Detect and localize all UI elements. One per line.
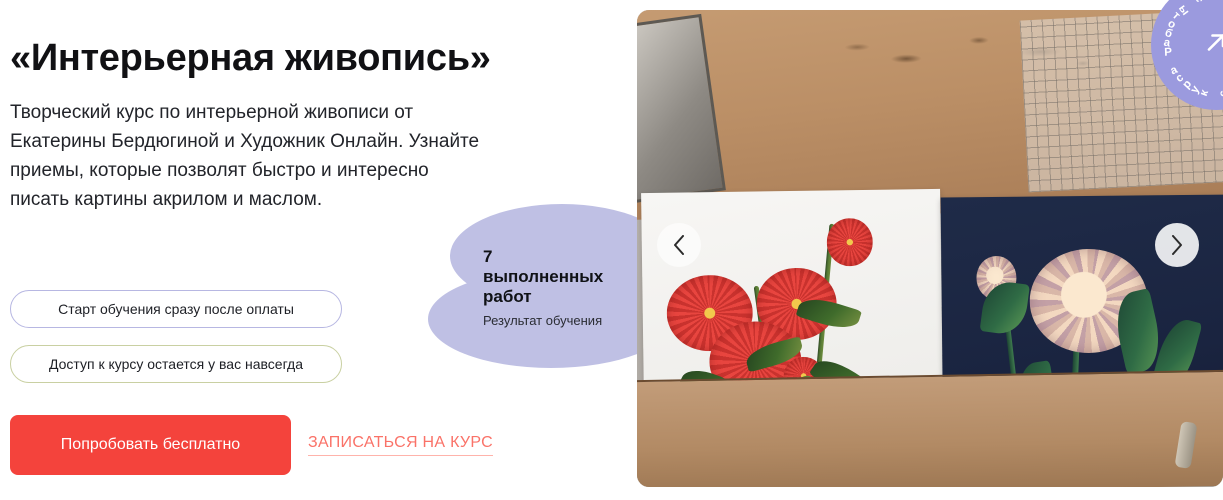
carousel-next-button[interactable]	[1155, 223, 1199, 267]
course-hero-section: «Интерьерная живопись» Творческий курс п…	[0, 0, 1223, 500]
works-from-course-badge[interactable]: Работы с курса • Работы с курса	[1151, 0, 1223, 110]
hero-text-column: «Интерьерная живопись» Творческий курс п…	[0, 0, 640, 500]
photo-table-surface	[637, 370, 1223, 487]
carousel-prev-button[interactable]	[657, 223, 701, 267]
studio-photo-scene	[637, 10, 1223, 487]
gallery-photo[interactable]	[637, 10, 1223, 487]
feature-pill-access: Доступ к курсу остается у вас навсегда	[10, 345, 342, 383]
feature-pill-start-label: Старт обучения сразу после оплаты	[58, 301, 294, 317]
hero-description: Творческий курс по интерьерной живописи …	[10, 98, 480, 214]
try-free-button[interactable]: Попробовать бесплатно	[10, 415, 291, 475]
chevron-left-icon	[673, 235, 685, 255]
chevron-right-icon	[1171, 235, 1183, 255]
arrow-up-right-icon	[1199, 26, 1223, 65]
enroll-course-link[interactable]: ЗАПИСАТЬСЯ НА КУРС	[308, 434, 493, 456]
feature-pill-access-label: Доступ к курсу остается у вас навсегда	[49, 356, 303, 372]
page-title: «Интерьерная живопись»	[10, 37, 610, 81]
feature-pill-start: Старт обучения сразу после оплаты	[10, 290, 342, 328]
